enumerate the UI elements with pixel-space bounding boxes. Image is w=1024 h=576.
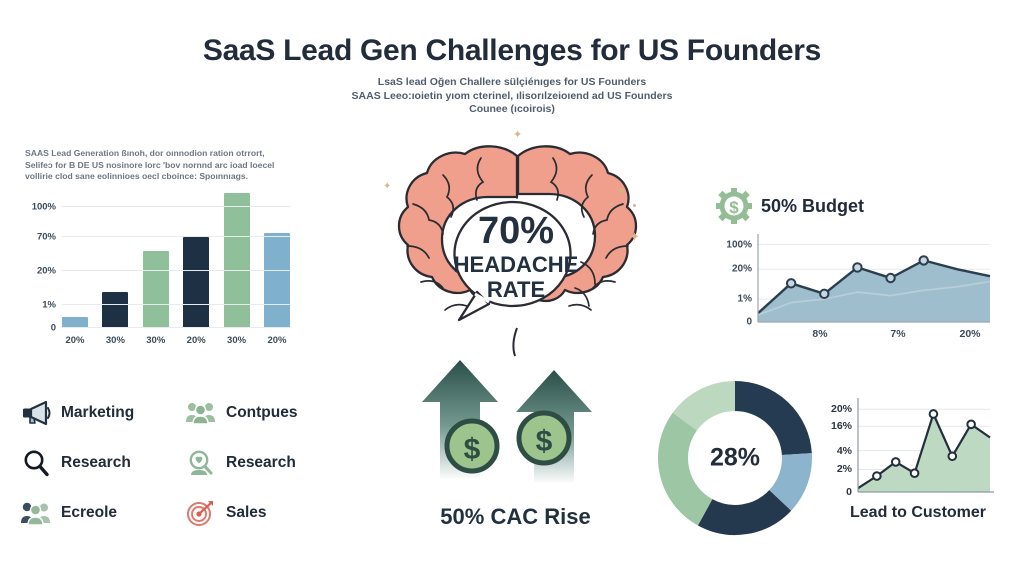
data-point xyxy=(967,421,975,429)
x-tick-label: 8% xyxy=(812,328,827,340)
icon-row: Marketing Contpues xyxy=(18,388,348,438)
x-tick-label: 20% xyxy=(62,335,88,346)
cac-label: 50% CAC Rise xyxy=(398,504,633,530)
ltc-svg xyxy=(858,398,996,496)
y-tick-label: 0 xyxy=(716,317,752,328)
data-point xyxy=(820,290,828,298)
icon-list: Marketing Contpues xyxy=(18,388,348,538)
icon-label: Contpues xyxy=(226,404,297,422)
infographic-canvas: SaaS Lead Gen Challenges for US Founders… xyxy=(0,0,1024,576)
data-point xyxy=(787,279,795,287)
icon-label: Research xyxy=(226,454,296,472)
bar xyxy=(264,233,290,328)
bar xyxy=(102,292,128,328)
subtitle-line-1: LsaS lead Oğen Challere sülçiénıges for … xyxy=(262,76,762,90)
icon-item-marketing[interactable]: Marketing xyxy=(18,397,183,429)
bar-chart-plot xyxy=(62,190,290,328)
cac-block: $ $ 50% CAC Rise xyxy=(398,358,633,538)
grid-line xyxy=(62,270,290,271)
subtitle-line-2: SAAS Leeo:ıoietin yıom cterinel, ılisorı… xyxy=(262,90,762,104)
brain-line1: HEADACHE xyxy=(454,252,579,277)
page-title: SaaS Lead Gen Challenges for US Founders xyxy=(0,34,1024,68)
budget-plot xyxy=(758,234,990,322)
data-point xyxy=(886,274,894,282)
y-tick-label: 4% xyxy=(820,445,852,457)
y-tick-label: 100% xyxy=(22,201,56,212)
icon-item-ecreole[interactable]: Ecreole xyxy=(18,497,183,529)
icon-label: Sales xyxy=(226,504,267,522)
x-tick-label: 20% xyxy=(183,335,209,346)
x-tick-label: 20% xyxy=(959,328,980,340)
y-tick-label: 1% xyxy=(716,294,752,305)
icon-item-contpues[interactable]: Contpues xyxy=(183,397,348,429)
bar xyxy=(224,193,250,328)
y-tick-label: 1% xyxy=(22,299,56,310)
data-point xyxy=(853,263,861,271)
grid-line xyxy=(62,327,290,328)
lead-to-customer-chart: 20%16%4%2%0 Lead to Customer xyxy=(820,392,1010,537)
ltc-title: Lead to Customer xyxy=(850,504,1010,522)
target-arrow-icon xyxy=(183,497,219,529)
bar xyxy=(183,237,209,328)
magnifier-heart-icon xyxy=(183,447,219,479)
sparkle-dot xyxy=(610,202,614,206)
sparkle-star: ✦ xyxy=(629,230,640,243)
sparkle-dot xyxy=(619,188,624,193)
x-tick-label: 20% xyxy=(264,335,290,346)
svg-text:$: $ xyxy=(729,198,739,217)
x-tick-label: 30% xyxy=(102,335,128,346)
budget-chart: $ 50% Budget 100%20%1%0 8%7%20% xyxy=(716,188,1006,353)
donut-chart: 28% xyxy=(655,378,815,538)
icon-row: Research Research xyxy=(18,438,348,488)
x-tick-label: 7% xyxy=(890,328,905,340)
icon-label: Marketing xyxy=(61,404,134,422)
icon-label: Ecreole xyxy=(61,504,117,522)
dollar-coin-icon: $ xyxy=(447,421,497,471)
y-tick-label: 70% xyxy=(22,231,56,242)
svg-text:$: $ xyxy=(536,425,553,458)
ltc-plot xyxy=(858,398,990,492)
bar-chart-bars xyxy=(62,190,290,328)
brain-illustration: 70% HEADACHE RATE xyxy=(385,142,650,357)
megaphone-icon xyxy=(18,397,54,429)
sparkle-dot xyxy=(633,204,636,207)
data-point xyxy=(911,469,919,477)
brain-callout: 70% HEADACHE RATE ✦ ✦ ✦ xyxy=(385,142,650,357)
donut-segment xyxy=(673,422,705,513)
donut-segment xyxy=(685,396,735,422)
people-trio-icon xyxy=(18,497,54,529)
brain-value: 70% xyxy=(478,210,554,252)
gear-dollar-icon: $ xyxy=(716,188,752,224)
icon-item-research-1[interactable]: Research xyxy=(18,447,183,479)
y-tick-label: 0 xyxy=(820,486,852,498)
y-tick-label: 20% xyxy=(716,264,752,275)
icon-row: Ecreole Sales xyxy=(18,488,348,538)
lead-paragraph: SAAS Lead Generation ßınoh, dor oınnodio… xyxy=(25,148,287,183)
dollar-coin-icon: $ xyxy=(519,413,569,463)
y-tick-label: 100% xyxy=(716,239,752,250)
x-tick-label: 30% xyxy=(143,335,169,346)
y-tick-label: 2% xyxy=(820,463,852,475)
data-point xyxy=(873,472,881,480)
y-tick-label: 0 xyxy=(22,323,56,334)
icon-item-research-2[interactable]: Research xyxy=(183,447,348,479)
grid-line xyxy=(62,236,290,237)
svg-text:$: $ xyxy=(464,433,481,466)
grid-line xyxy=(62,206,290,207)
donut-segment xyxy=(780,454,797,500)
y-tick-label: 20% xyxy=(22,266,56,277)
y-tick-label: 16% xyxy=(820,420,852,432)
icon-label: Research xyxy=(61,454,131,472)
sparkle-star: ✦ xyxy=(513,130,522,141)
icon-item-sales[interactable]: Sales xyxy=(183,497,348,529)
sparkle-star: ✦ xyxy=(383,182,391,192)
cac-arrows: $ $ xyxy=(398,358,633,508)
data-point xyxy=(920,256,928,264)
x-tick-label: 30% xyxy=(224,335,250,346)
bar xyxy=(143,251,169,328)
data-point xyxy=(892,458,900,466)
data-point xyxy=(930,410,938,418)
y-tick-label: 20% xyxy=(820,403,852,415)
donut-center-label: 28% xyxy=(710,444,760,473)
data-point xyxy=(948,452,956,460)
bar-chart-x-axis: 20%30%30%20%30%20% xyxy=(62,330,290,350)
bar-chart: 100%70%20%1%0 20%30%30%20%30%20% xyxy=(22,190,294,350)
magnifier-icon xyxy=(18,447,54,479)
page-subtitle: LsaS lead Oğen Challere sülçiénıges for … xyxy=(262,76,762,117)
brain-line2: RATE xyxy=(487,277,545,302)
donut-segment xyxy=(705,500,780,520)
budget-area-svg xyxy=(758,234,990,326)
grid-line xyxy=(62,304,290,305)
budget-title: 50% Budget xyxy=(761,196,864,217)
budget-header: $ 50% Budget xyxy=(716,188,864,224)
people-group-icon xyxy=(183,397,219,429)
subtitle-line-3: Counee (ıcoirois) xyxy=(262,103,762,117)
